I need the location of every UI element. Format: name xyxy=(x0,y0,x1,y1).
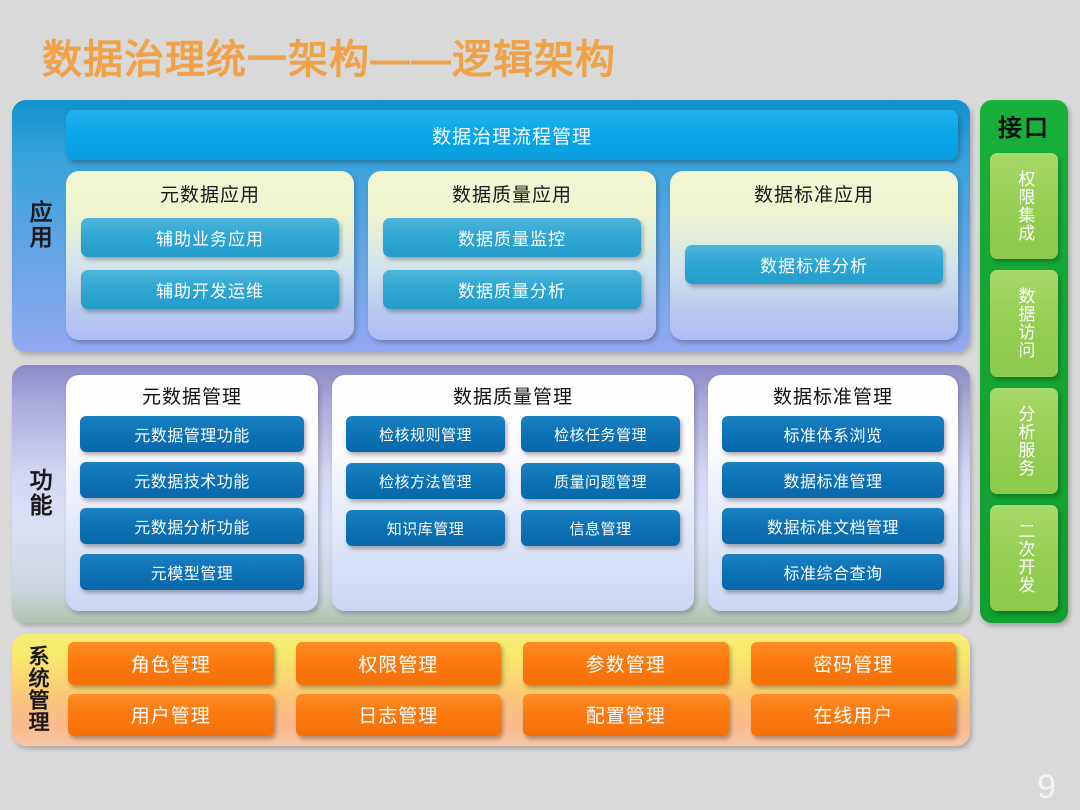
architecture-diagram: 应用 数据治理流程管理 元数据应用 辅助业务应用 辅助开发运维 xyxy=(12,100,1068,760)
func-item-metadata-analysis-function-label: 元数据分析功能 xyxy=(134,514,250,538)
func-item-standard-system-browse-label: 标准体系浏览 xyxy=(783,422,882,446)
interface-item-analysis-service-label: 分析服务 xyxy=(1015,405,1034,477)
func-item-metadata-tech-function[interactable]: 元数据技术功能 xyxy=(80,462,304,498)
func-item-metadata-tech-function-label: 元数据技术功能 xyxy=(134,468,250,492)
application-layer-body: 数据治理流程管理 元数据应用 辅助业务应用 辅助开发运维 数据质量应 xyxy=(66,110,958,340)
func-item-check-rule-mgmt[interactable]: 检核规则管理 xyxy=(346,416,505,452)
system-management-items: 角色管理 权限管理 参数管理 密码管理 用户管理 日志管理 配置管理 在线用户 xyxy=(62,642,956,736)
app-item-quality-monitor-label: 数据质量监控 xyxy=(458,225,566,250)
interface-item-data-access[interactable]: 数据访问 xyxy=(990,270,1058,376)
interface-item-permission-integration[interactable]: 权限集成 xyxy=(990,153,1058,259)
func-card-standard-management: 数据标准管理 标准体系浏览 数据标准管理 数据标准文档管理 标准综合查询 xyxy=(708,375,958,611)
interface-item-secondary-development-label: 二次开发 xyxy=(1015,522,1034,594)
app-item-assist-business[interactable]: 辅助业务应用 xyxy=(81,218,339,257)
func-item-check-task-mgmt-label: 检核任务管理 xyxy=(554,424,647,445)
func-card-quality-management-title: 数据质量管理 xyxy=(346,382,680,409)
func-card-standard-management-items: 标准体系浏览 数据标准管理 数据标准文档管理 标准综合查询 xyxy=(722,416,944,590)
app-card-data-standard-title: 数据标准应用 xyxy=(685,180,943,207)
func-item-data-standard-doc-mgmt-label: 数据标准文档管理 xyxy=(767,514,899,538)
func-card-quality-management-items: 检核规则管理 检核任务管理 检核方法管理 质量问题管理 知识库管理 xyxy=(346,416,680,546)
interface-item-data-access-label: 数据访问 xyxy=(1015,287,1034,359)
sys-item-log-management-label: 日志管理 xyxy=(358,701,438,728)
page-title: 数据治理统一架构——逻辑架构 xyxy=(42,38,616,82)
app-item-standard-analysis[interactable]: 数据标准分析 xyxy=(685,245,943,284)
sys-item-user-management-label: 用户管理 xyxy=(131,701,211,728)
system-management-layer: 系统管理 角色管理 权限管理 参数管理 密码管理 用户管理 日志管理 配置管理 xyxy=(12,634,970,746)
app-card-data-quality: 数据质量应用 数据质量监控 数据质量分析 xyxy=(368,171,656,340)
func-item-info-mgmt[interactable]: 信息管理 xyxy=(521,510,680,546)
data-governance-process-banner-label: 数据治理流程管理 xyxy=(432,122,592,149)
sys-item-log-management[interactable]: 日志管理 xyxy=(296,694,502,737)
func-card-metadata-management: 元数据管理 元数据管理功能 元数据技术功能 元数据分析功能 元模型管理 xyxy=(66,375,318,611)
func-item-quality-issue-mgmt[interactable]: 质量问题管理 xyxy=(521,463,680,499)
func-item-data-standard-mgmt-label: 数据标准管理 xyxy=(783,468,882,492)
func-item-quality-issue-mgmt-label: 质量问题管理 xyxy=(554,471,647,492)
func-card-metadata-management-title: 元数据管理 xyxy=(80,382,304,409)
app-item-assist-devops[interactable]: 辅助开发运维 xyxy=(81,270,339,309)
func-item-check-task-mgmt[interactable]: 检核任务管理 xyxy=(521,416,680,452)
app-item-assist-business-label: 辅助业务应用 xyxy=(156,225,264,250)
sys-item-password-management-label: 密码管理 xyxy=(813,650,893,677)
sys-item-user-management[interactable]: 用户管理 xyxy=(68,694,274,737)
app-card-data-quality-title: 数据质量应用 xyxy=(383,180,641,207)
func-item-data-standard-mgmt[interactable]: 数据标准管理 xyxy=(722,462,944,498)
function-layer-label-text: 功能 xyxy=(27,468,51,518)
sys-item-online-users-label: 在线用户 xyxy=(813,701,893,728)
app-item-quality-analysis-label: 数据质量分析 xyxy=(458,277,566,302)
func-item-metamodel-management[interactable]: 元模型管理 xyxy=(80,554,304,590)
func-item-check-rule-mgmt-label: 检核规则管理 xyxy=(379,424,472,445)
func-item-knowledge-base-mgmt-label: 知识库管理 xyxy=(387,518,465,539)
page-number: 9 xyxy=(1037,770,1056,804)
interface-panel-title: 接口 xyxy=(998,108,1050,143)
func-item-check-method-mgmt-label: 检核方法管理 xyxy=(379,471,472,492)
func-item-data-standard-doc-mgmt[interactable]: 数据标准文档管理 xyxy=(722,508,944,544)
system-management-layer-label: 系统管理 xyxy=(12,642,62,736)
sys-item-config-management-label: 配置管理 xyxy=(586,701,666,728)
sys-item-role-management[interactable]: 角色管理 xyxy=(68,642,274,685)
app-item-standard-analysis-label: 数据标准分析 xyxy=(760,252,868,277)
function-layer: 功能 元数据管理 元数据管理功能 元数据技术功能 元数据分析功能 元模型管理 xyxy=(12,365,970,623)
function-layer-label: 功能 xyxy=(12,375,66,611)
interface-item-analysis-service[interactable]: 分析服务 xyxy=(990,388,1058,494)
application-cards: 元数据应用 辅助业务应用 辅助开发运维 数据质量应用 数据质量 xyxy=(66,171,958,340)
sys-item-password-management[interactable]: 密码管理 xyxy=(751,642,957,685)
interface-item-permission-integration-label: 权限集成 xyxy=(1015,170,1034,242)
func-item-info-mgmt-label: 信息管理 xyxy=(569,518,631,539)
application-layer: 应用 数据治理流程管理 元数据应用 辅助业务应用 辅助开发运维 xyxy=(12,100,970,352)
sys-item-permission-management[interactable]: 权限管理 xyxy=(296,642,502,685)
func-item-standard-query-label: 标准综合查询 xyxy=(783,560,882,584)
func-item-metamodel-management-label: 元模型管理 xyxy=(151,560,234,584)
func-item-check-method-mgmt[interactable]: 检核方法管理 xyxy=(346,463,505,499)
app-item-quality-analysis[interactable]: 数据质量分析 xyxy=(383,270,641,309)
sys-item-parameter-management-label: 参数管理 xyxy=(586,650,666,677)
app-item-quality-monitor[interactable]: 数据质量监控 xyxy=(383,218,641,257)
app-card-metadata-items: 辅助业务应用 辅助开发运维 xyxy=(81,218,339,309)
app-card-data-standard-items: 数据标准分析 xyxy=(685,245,943,284)
sys-item-role-management-label: 角色管理 xyxy=(131,650,211,677)
application-layer-label: 应用 xyxy=(12,110,66,340)
sys-item-parameter-management[interactable]: 参数管理 xyxy=(523,642,729,685)
app-card-data-standard: 数据标准应用 数据标准分析 xyxy=(670,171,958,340)
app-card-metadata: 元数据应用 辅助业务应用 辅助开发运维 xyxy=(66,171,354,340)
function-cards: 元数据管理 元数据管理功能 元数据技术功能 元数据分析功能 元模型管理 xyxy=(66,375,958,611)
func-item-metadata-mgmt-function[interactable]: 元数据管理功能 xyxy=(80,416,304,452)
func-card-quality-management: 数据质量管理 检核规则管理 检核任务管理 检核方法管理 质量问题管理 xyxy=(332,375,694,611)
interface-item-secondary-development[interactable]: 二次开发 xyxy=(990,505,1058,611)
data-governance-process-banner[interactable]: 数据治理流程管理 xyxy=(66,110,958,160)
func-item-metadata-analysis-function[interactable]: 元数据分析功能 xyxy=(80,508,304,544)
func-item-knowledge-base-mgmt[interactable]: 知识库管理 xyxy=(346,510,505,546)
interface-panel: 接口 权限集成 数据访问 分析服务 二次开发 xyxy=(980,100,1068,623)
app-card-metadata-title: 元数据应用 xyxy=(81,180,339,207)
app-card-data-quality-items: 数据质量监控 数据质量分析 xyxy=(383,218,641,309)
system-management-layer-label-text: 系统管理 xyxy=(26,645,48,733)
sys-item-permission-management-label: 权限管理 xyxy=(358,650,438,677)
application-layer-label-text: 应用 xyxy=(27,200,51,250)
func-item-standard-query[interactable]: 标准综合查询 xyxy=(722,554,944,590)
func-card-standard-management-title: 数据标准管理 xyxy=(722,382,944,409)
sys-item-config-management[interactable]: 配置管理 xyxy=(523,694,729,737)
app-item-assist-devops-label: 辅助开发运维 xyxy=(156,277,264,302)
func-item-standard-system-browse[interactable]: 标准体系浏览 xyxy=(722,416,944,452)
interface-panel-items: 权限集成 数据访问 分析服务 二次开发 xyxy=(990,153,1058,611)
sys-item-online-users[interactable]: 在线用户 xyxy=(751,694,957,737)
func-card-metadata-management-items: 元数据管理功能 元数据技术功能 元数据分析功能 元模型管理 xyxy=(80,416,304,590)
func-item-metadata-mgmt-function-label: 元数据管理功能 xyxy=(134,422,250,446)
